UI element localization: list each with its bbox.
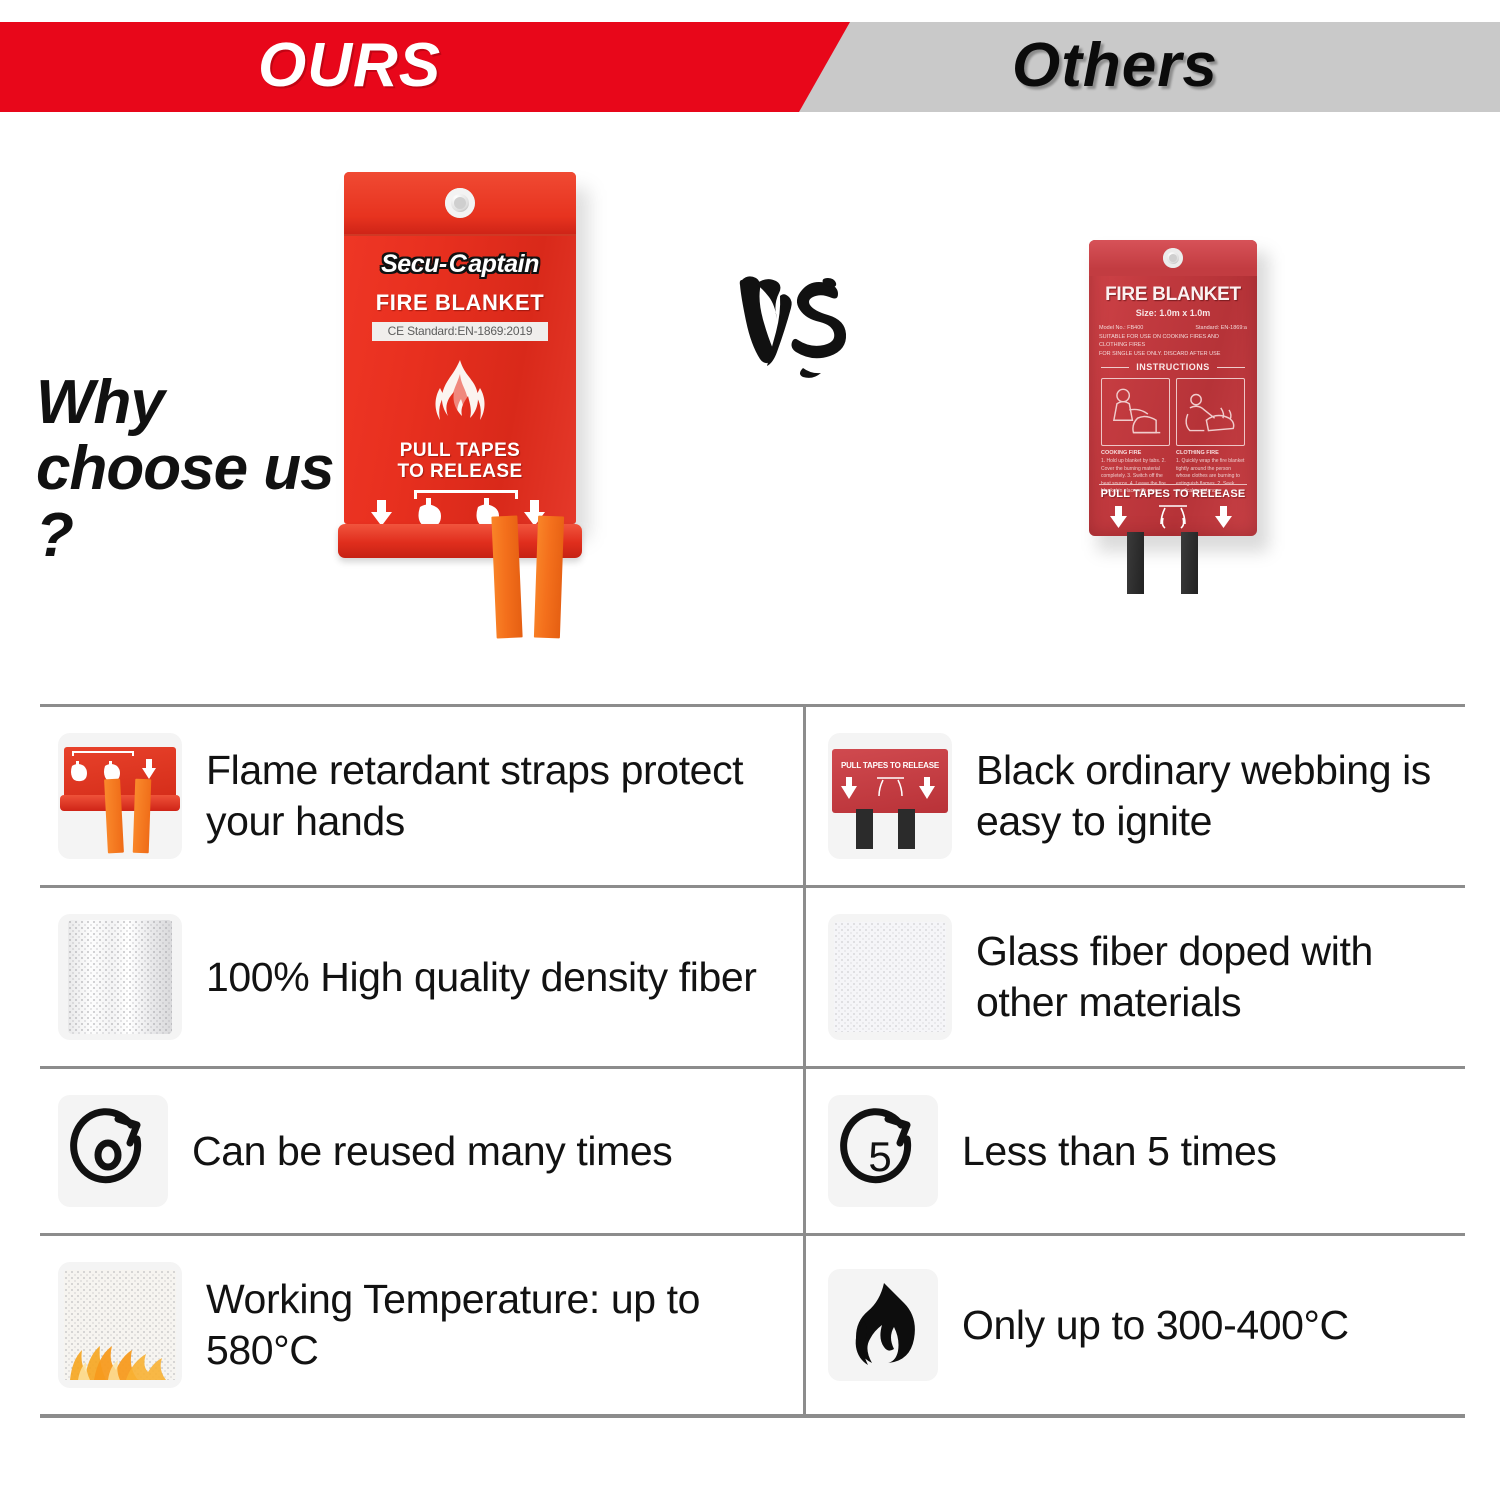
- ours-orange-strap: [491, 515, 522, 638]
- others-feature-text: Black ordinary webbing is easy to ignite: [976, 745, 1451, 847]
- hand-pull-icon: [419, 498, 442, 524]
- black-strap-art: [856, 809, 873, 849]
- ours-pull-instruction: PULL TAPES TO RELEASE: [344, 440, 576, 483]
- down-arrow-icon: [371, 500, 392, 524]
- fiber-sheet-art: [834, 922, 946, 1032]
- flame-icon: [828, 1269, 938, 1381]
- hanging-grommet-icon: [445, 188, 475, 218]
- ours-package-body: Secu-Captain FIRE BLANKET CE Standard:EN…: [344, 172, 576, 524]
- down-arrow-icon: [1215, 506, 1232, 528]
- brand-suffix: aptain: [468, 250, 539, 278]
- pull-tapes-label: PULL TAPES TO RELEASE: [832, 761, 948, 770]
- ours-brand-logo: Secu-Captain: [344, 250, 576, 279]
- ours-pull-line-2: TO RELEASE: [344, 461, 576, 482]
- ours-package-title: FIRE BLANKET: [344, 290, 576, 316]
- brand-prefix: Secu-: [381, 250, 447, 278]
- header-others-label: Others: [1012, 22, 1218, 112]
- others-cell: Glass fiber doped with other materials: [803, 888, 1465, 1066]
- weave-texture: [68, 920, 172, 1034]
- orange-straps-thumbnail: [58, 733, 182, 859]
- header-ours-label: OURS: [258, 22, 441, 112]
- black-strap-art: [898, 809, 915, 849]
- ours-feature-text: Flame retardant straps protect your hand…: [206, 745, 789, 847]
- cooking-fire-pictogram: [1101, 378, 1170, 446]
- table-row: 100% High quality density fiber Glass fi…: [40, 885, 1465, 1066]
- cooking-fire-caption: COOKING FIRE: [1101, 450, 1170, 456]
- ours-pictogram-row: [358, 490, 562, 524]
- flame-emblem-icon: [418, 358, 502, 434]
- others-pull-instruction: PULL TAPES TO RELEASE: [1089, 488, 1257, 500]
- fiber-with-flames-thumbnail: [58, 1262, 182, 1388]
- page-headline: Why choose us ?: [36, 370, 346, 569]
- ours-product-package: Secu-Captain FIRE BLANKET CE Standard:EN…: [344, 172, 576, 522]
- others-divider-line: [1099, 484, 1247, 485]
- ours-orange-strap: [534, 516, 564, 639]
- header-banner: OURS Others: [0, 22, 1500, 112]
- others-cell: Only up to 300-400°C: [803, 1236, 1465, 1414]
- others-cell: PULL TAPES TO RELEASE: [803, 707, 1465, 885]
- others-standard: Standard: EN-1869:a: [1195, 324, 1247, 333]
- ours-feature-text: Can be reused many times: [192, 1126, 672, 1177]
- others-package-title: FIRE BLANKET: [1089, 284, 1257, 306]
- comparison-table: Flame retardant straps protect your hand…: [40, 704, 1465, 1418]
- ours-feature-text: 100% High quality density fiber: [206, 952, 757, 1003]
- reuse-five-times-icon: 5: [828, 1095, 938, 1207]
- fiber-roll-art: [68, 920, 172, 1034]
- ours-cell: 100% High quality density fiber: [40, 888, 803, 1066]
- ours-feature-text: Working Temperature: up to 580°C: [206, 1274, 789, 1376]
- black-webbing-thumbnail: PULL TAPES TO RELEASE: [828, 733, 952, 859]
- down-arrow-icon: [1110, 506, 1127, 528]
- others-cell: 5 Less than 5 times: [803, 1069, 1465, 1233]
- others-model: Model No.: FB400: [1099, 324, 1143, 333]
- package-bottom-art: PULL TAPES TO RELEASE: [832, 749, 948, 813]
- versus-mark: [728, 270, 858, 388]
- fiber-sheet-art: [64, 1270, 176, 1380]
- weave-texture: [834, 922, 946, 1032]
- others-usage-2: FOR SINGLE USE ONLY. DISCARD AFTER USE: [1099, 350, 1247, 359]
- others-instruction-panels: [1101, 378, 1245, 446]
- hanging-grommet-icon: [1163, 248, 1183, 268]
- ours-cell: Working Temperature: up to 580°C: [40, 1236, 803, 1414]
- infinite-reuse-icon: [58, 1095, 168, 1207]
- others-feature-text: Only up to 300-400°C: [962, 1300, 1349, 1351]
- others-feature-text: Less than 5 times: [962, 1126, 1277, 1177]
- clothing-fire-caption: CLOTHING FIRE: [1176, 450, 1245, 456]
- hand-pull-icon: [1159, 506, 1187, 528]
- flame-art: [64, 1328, 176, 1380]
- others-feature-text: Glass fiber doped with other materials: [976, 926, 1451, 1028]
- others-usage-1: SUITABLE FOR USE ON COOKING FIRES AND CL…: [1099, 333, 1247, 350]
- others-product-package: FIRE BLANKET Size: 1.0m x 1.0m Model No.…: [1089, 240, 1257, 536]
- others-package-size: Size: 1.0m x 1.0m: [1089, 308, 1257, 318]
- others-package-meta: Model No.: FB400 Standard: EN-1869:a SUI…: [1099, 324, 1247, 358]
- reuse-count-number: 5: [868, 1133, 891, 1180]
- ours-cell: Flame retardant straps protect your hand…: [40, 707, 803, 885]
- others-instructions-heading: INSTRUCTIONS: [1101, 362, 1245, 372]
- others-pictogram-row: [1099, 504, 1247, 532]
- bracket-icon: [72, 751, 134, 756]
- clothing-fire-pictogram: [1176, 378, 1245, 446]
- hero-section: Why choose us ? Secu-Captain FIRE BLANKE…: [0, 112, 1500, 692]
- ours-pull-line-1: PULL TAPES: [344, 440, 576, 461]
- others-package-body: FIRE BLANKET Size: 1.0m x 1.0m Model No.…: [1089, 240, 1257, 536]
- others-black-strap: [1181, 532, 1198, 594]
- glass-fiber-sheet-thumbnail: [828, 914, 952, 1040]
- white-fiber-roll-thumbnail: [58, 914, 182, 1040]
- table-row: Working Temperature: up to 580°C Only up…: [40, 1233, 1465, 1418]
- ours-cell: Can be reused many times: [40, 1069, 803, 1233]
- table-row: Can be reused many times 5 Less than 5 t…: [40, 1066, 1465, 1233]
- orange-strap-art: [133, 779, 152, 854]
- brand-shield-icon: C: [447, 250, 469, 279]
- others-black-strap: [1127, 532, 1144, 594]
- table-row: Flame retardant straps protect your hand…: [40, 704, 1465, 885]
- ours-package-certification: CE Standard:EN-1869:2019: [372, 322, 548, 341]
